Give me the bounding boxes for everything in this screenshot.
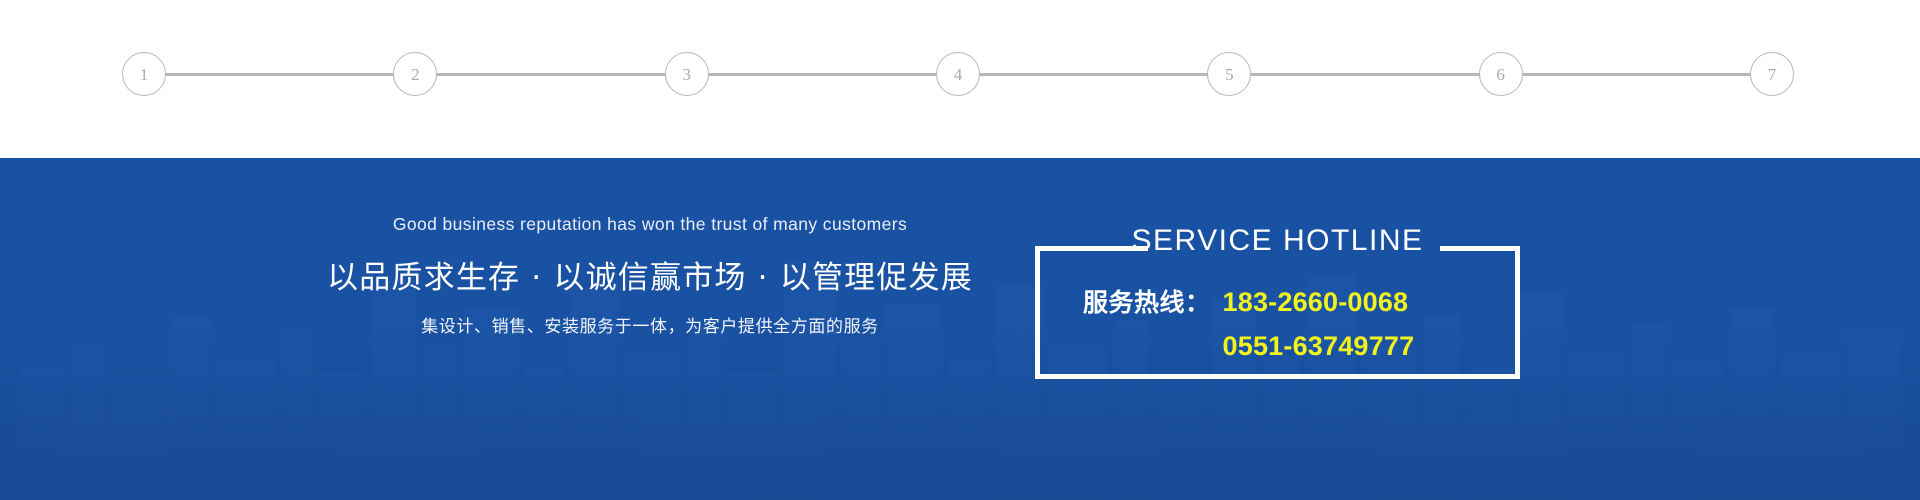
step-connector-line: [165, 73, 394, 76]
step-node-7[interactable]: 7: [1750, 52, 1794, 96]
step-connector-line: [1522, 73, 1751, 76]
step-node-2[interactable]: 2: [393, 52, 437, 96]
page-root: 1 2 3 4 5 6 7: [0, 0, 1920, 500]
step-number-label: 6: [1496, 66, 1505, 83]
hotline-number-list: 服务热线： 183-2660-0068 服务热线： 0551-63749777: [1035, 283, 1520, 363]
step-connector-line: [979, 73, 1208, 76]
step-list: 1 2 3 4 5 6 7: [122, 50, 1794, 98]
hotline-number-primary[interactable]: 183-2660-0068: [1223, 287, 1409, 318]
slogan-chinese-headline: 以品质求生存 · 以诚信赢市场 · 以管理促发展: [300, 252, 1000, 297]
step-node-4[interactable]: 4: [936, 52, 980, 96]
service-hotline-box: SERVICE HOTLINE 服务热线： 183-2660-0068 服务热线…: [1035, 246, 1520, 379]
step-number-label: 7: [1768, 66, 1777, 83]
hotline-label: 服务热线：: [1083, 283, 1211, 319]
slogan-english-line: Good business reputation has won the tru…: [300, 214, 1000, 235]
hotline-row-secondary: 服务热线： 0551-63749777: [1035, 327, 1520, 363]
step-number-label: 3: [682, 66, 691, 83]
step-connector-line: [708, 73, 937, 76]
step-indicator-bar: 1 2 3 4 5 6 7: [0, 0, 1920, 158]
step-connector-line: [1250, 73, 1479, 76]
promo-banner: Good business reputation has won the tru…: [0, 158, 1920, 500]
step-number-label: 1: [140, 66, 149, 83]
step-node-1[interactable]: 1: [122, 52, 166, 96]
hotline-border-bottom: [1035, 374, 1520, 379]
step-connector-line: [436, 73, 665, 76]
slogan-chinese-subline: 集设计、销售、安装服务于一体，为客户提供全方面的服务: [300, 312, 1000, 337]
step-number-label: 5: [1225, 66, 1234, 83]
step-number-label: 2: [411, 66, 420, 83]
step-node-5[interactable]: 5: [1207, 52, 1251, 96]
step-node-6[interactable]: 6: [1479, 52, 1523, 96]
step-number-label: 4: [954, 66, 963, 83]
step-node-3[interactable]: 3: [665, 52, 709, 96]
hotline-number-secondary[interactable]: 0551-63749777: [1223, 331, 1415, 362]
hotline-row-primary: 服务热线： 183-2660-0068: [1035, 283, 1520, 319]
slogan-block: Good business reputation has won the tru…: [0, 158, 1000, 500]
hotline-title: SERVICE HOTLINE: [1035, 224, 1520, 258]
